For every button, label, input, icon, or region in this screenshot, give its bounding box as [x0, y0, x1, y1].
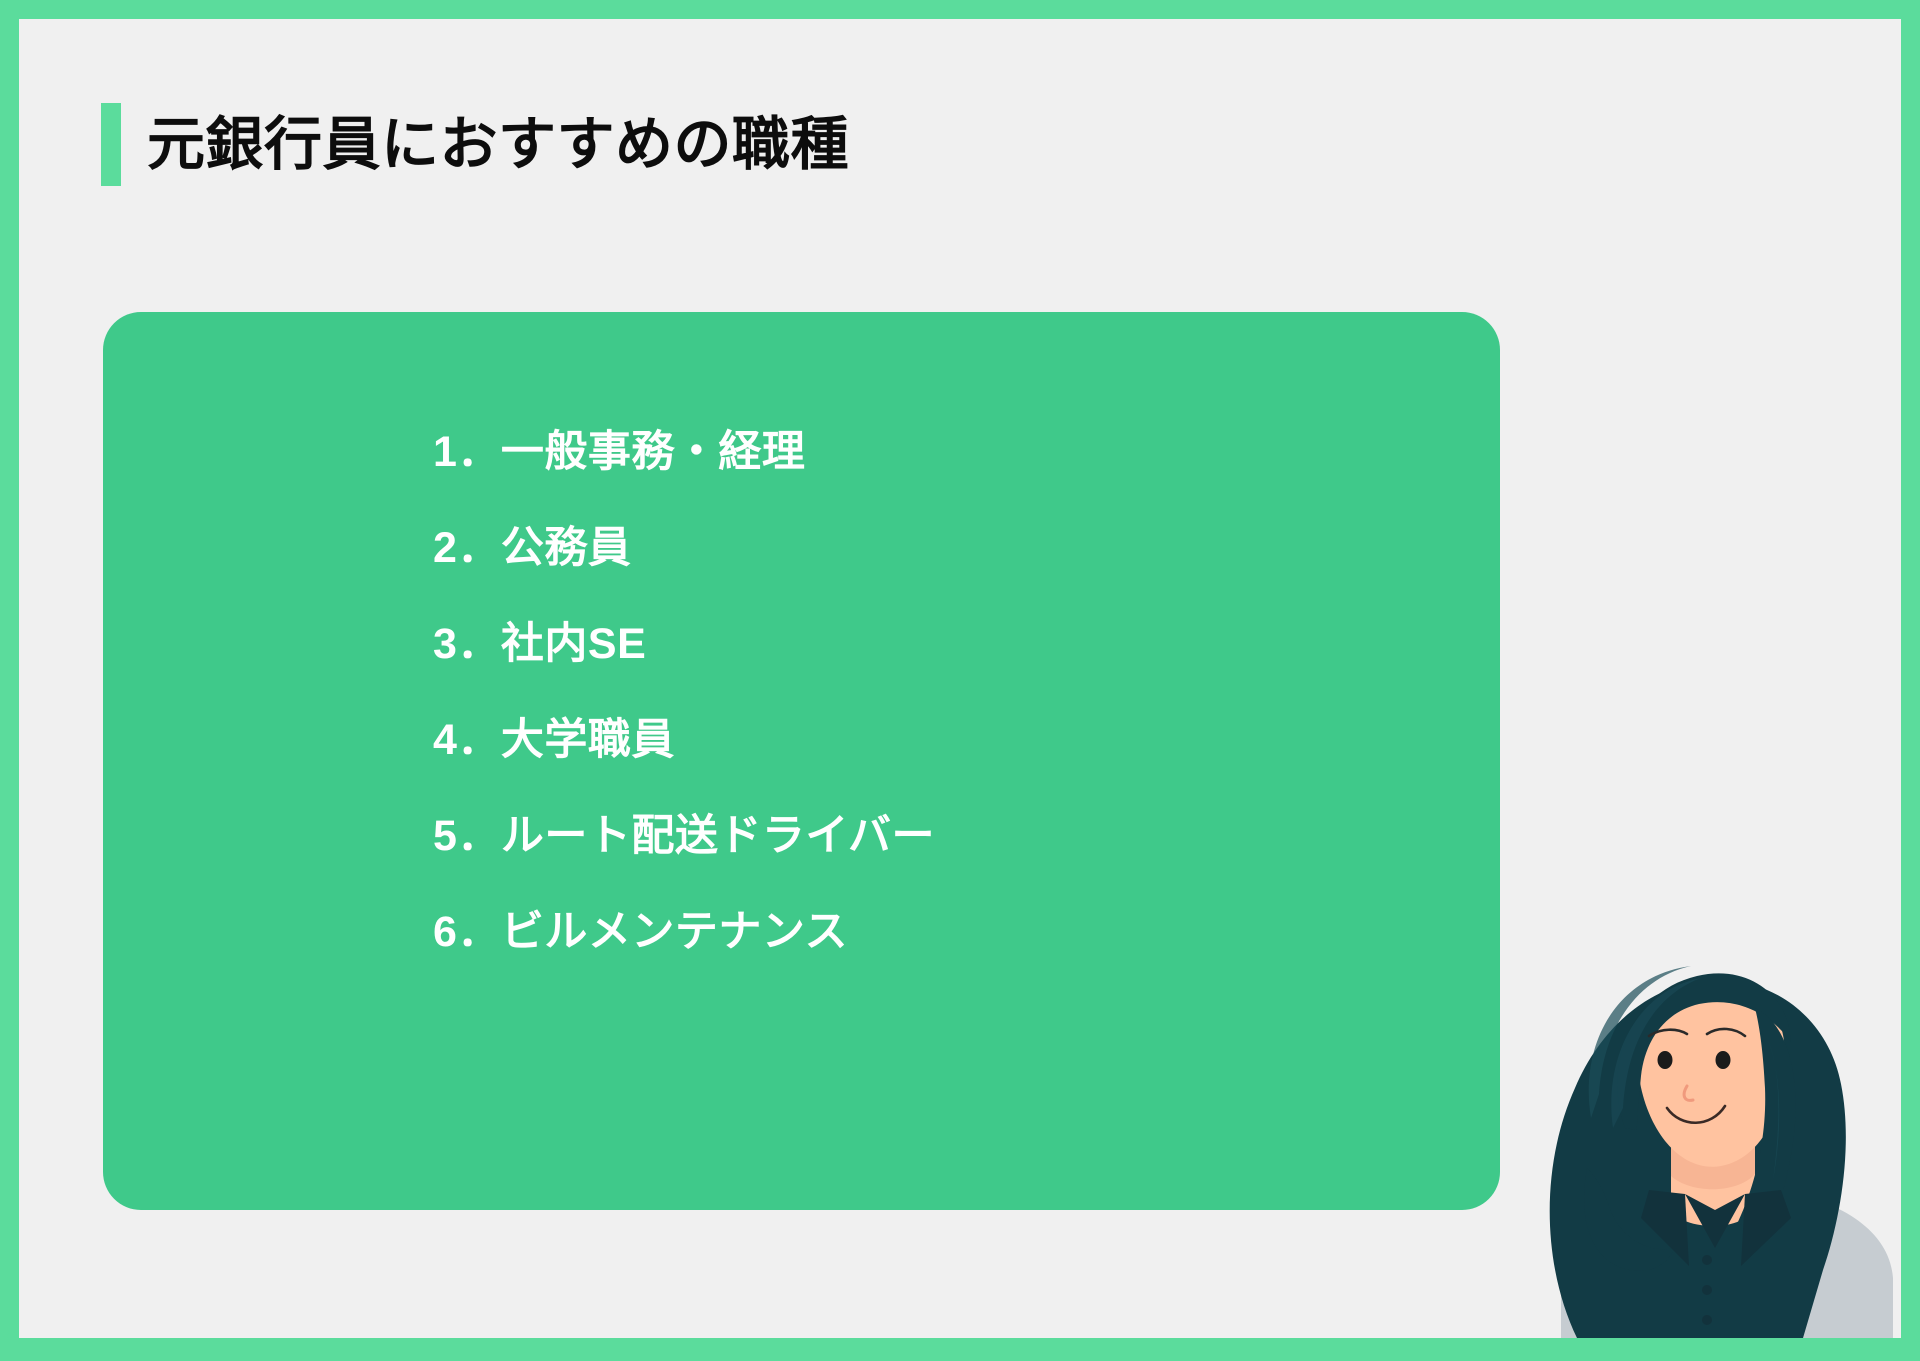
recommended-jobs-list: 1．一般事務・経理 2．公務員 3．社内SE 4．大学職員 5．ルート配送ドライ…	[433, 404, 935, 980]
page-title: 元銀行員におすすめの職種	[101, 103, 849, 186]
list-item: 4．大学職員	[433, 692, 935, 788]
shirt-button	[1702, 1285, 1712, 1295]
slide-canvas: 元銀行員におすすめの職種 1．一般事務・経理 2．公務員 3．社内SE 4．大学…	[19, 19, 1901, 1338]
list-item: 2．公務員	[433, 500, 935, 596]
shirt-button	[1702, 1315, 1712, 1325]
slide-frame: 元銀行員におすすめの職種 1．一般事務・経理 2．公務員 3．社内SE 4．大学…	[0, 0, 1920, 1361]
title-accent-bar	[101, 103, 121, 186]
eye-left	[1658, 1051, 1673, 1069]
eye-right	[1716, 1051, 1731, 1069]
shirt-button	[1702, 1255, 1712, 1265]
list-item: 3．社内SE	[433, 596, 935, 692]
page-title-text: 元銀行員におすすめの職種	[147, 116, 849, 174]
list-item: 5．ルート配送ドライバー	[433, 788, 935, 884]
woman-portrait-illustration	[1541, 918, 1901, 1338]
list-item: 1．一般事務・経理	[433, 404, 935, 500]
list-item: 6．ビルメンテナンス	[433, 884, 935, 980]
recommended-jobs-card: 1．一般事務・経理 2．公務員 3．社内SE 4．大学職員 5．ルート配送ドライ…	[103, 312, 1500, 1210]
